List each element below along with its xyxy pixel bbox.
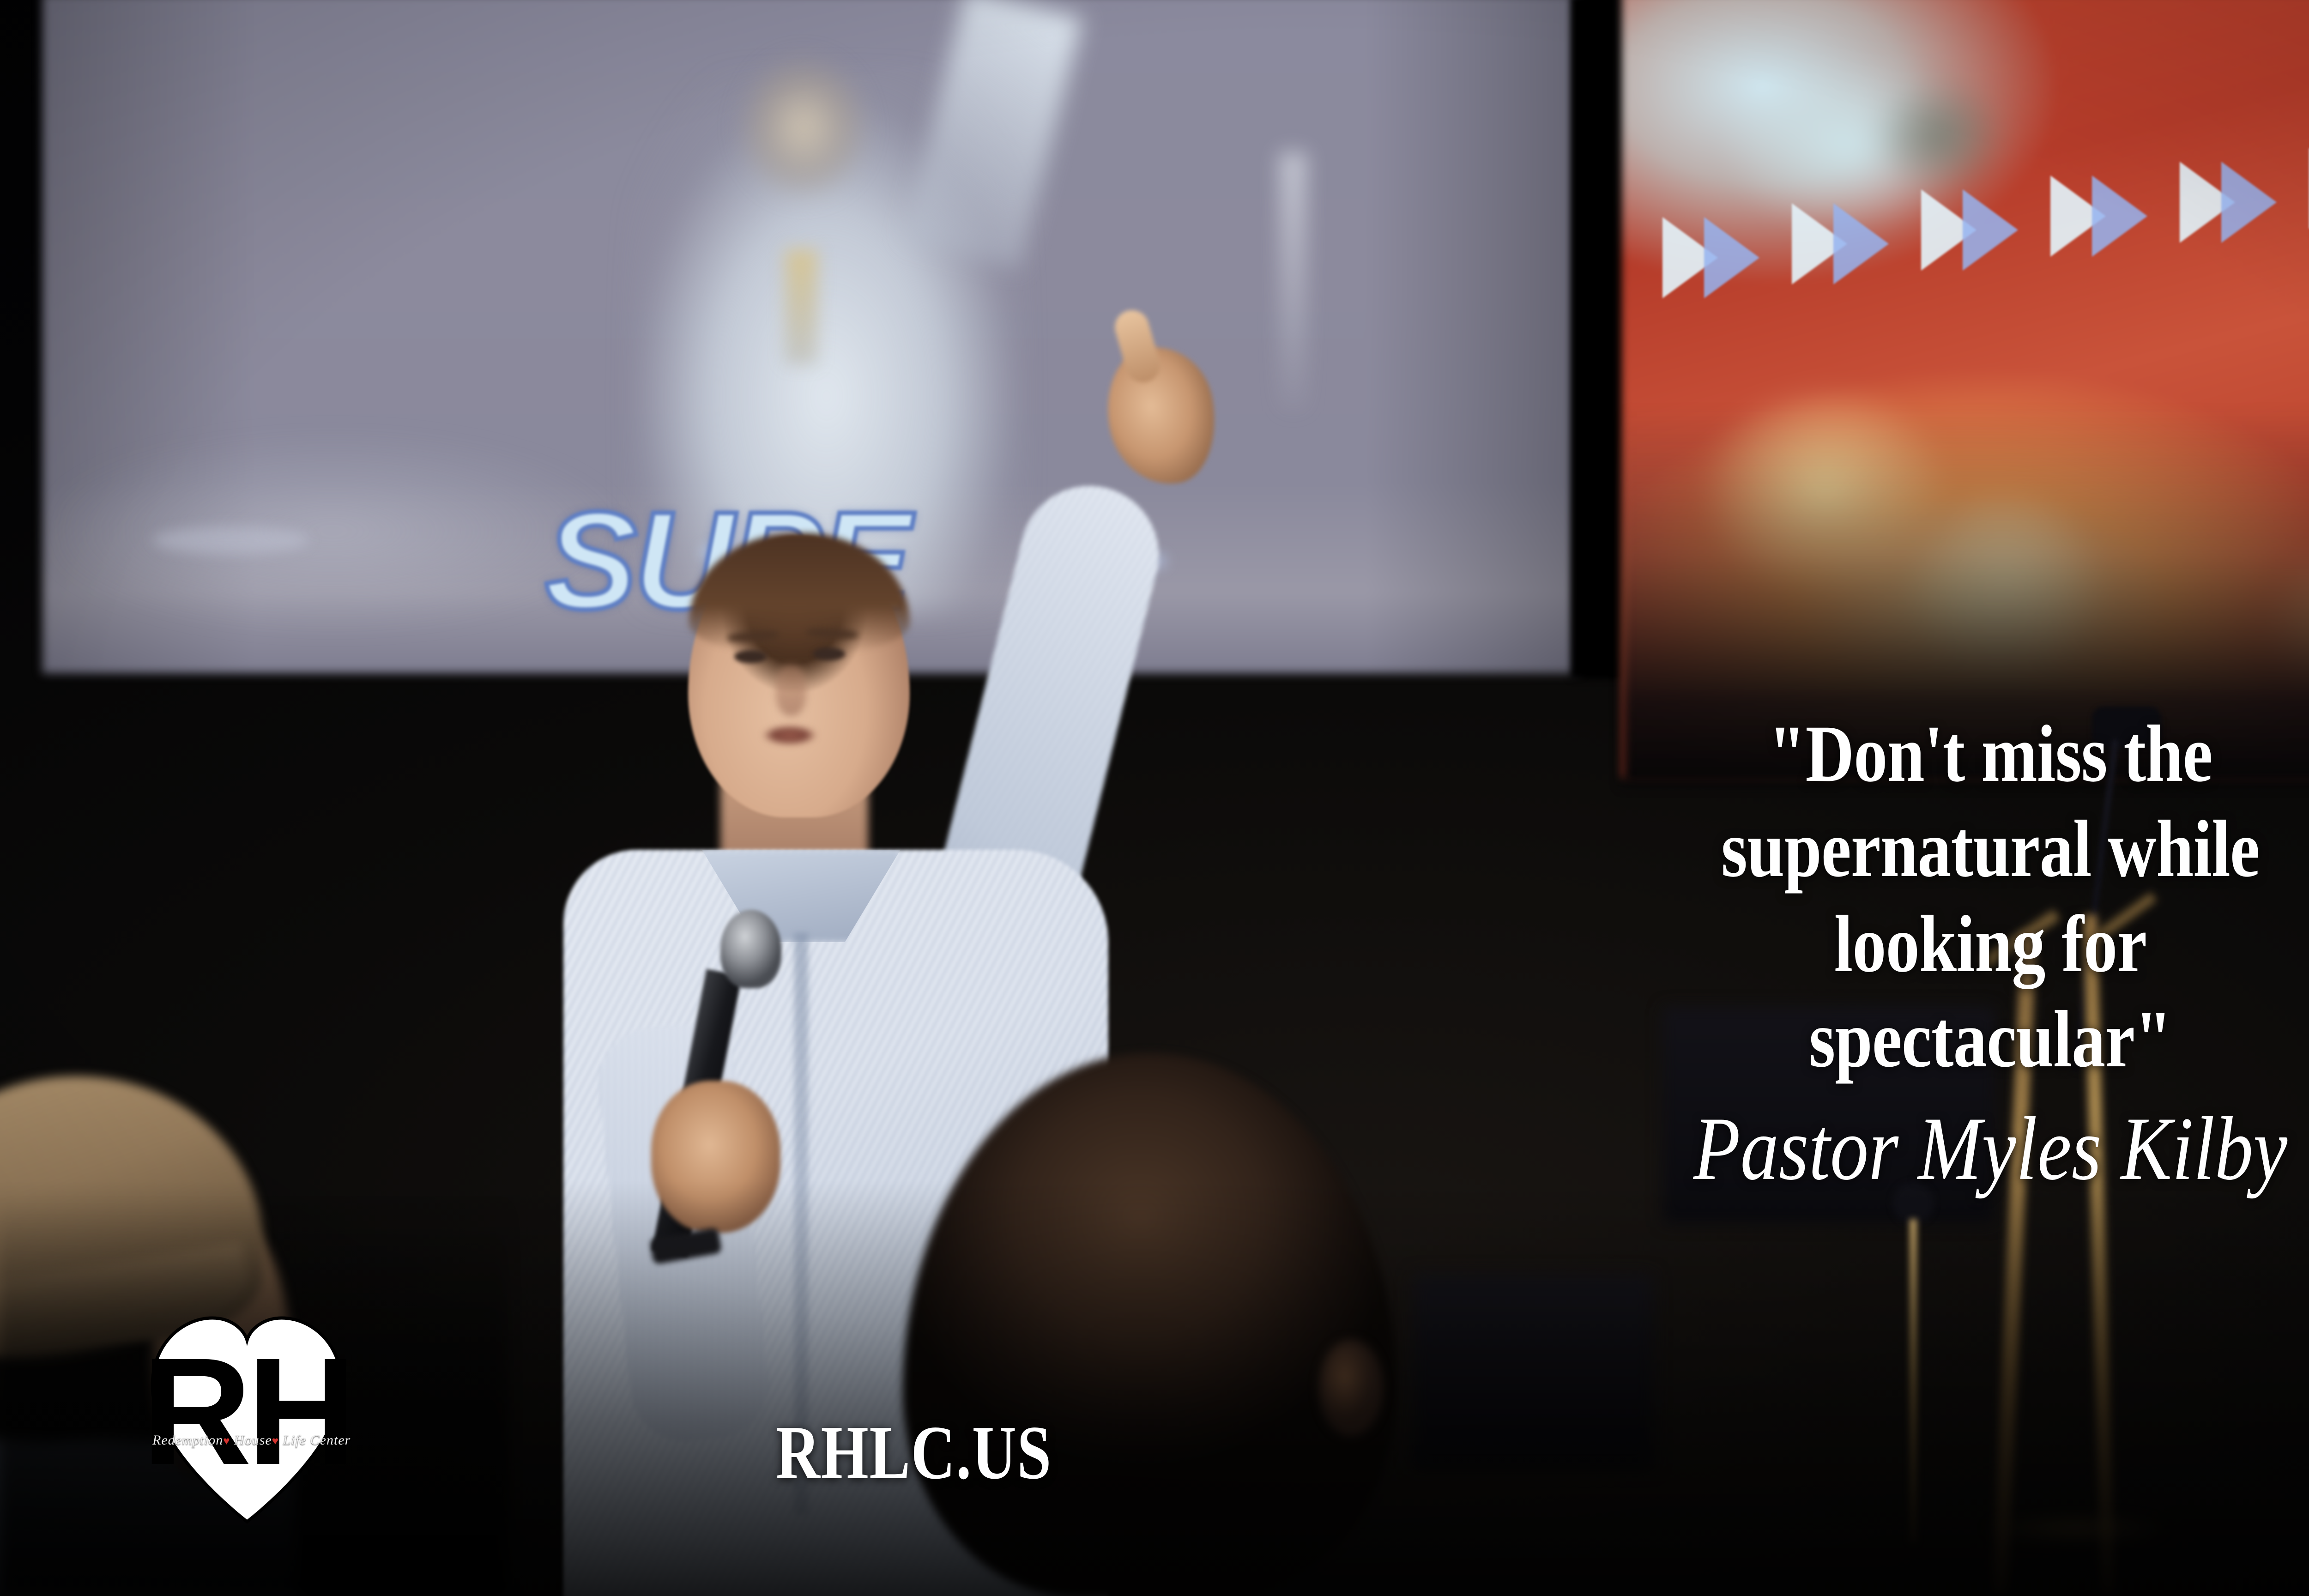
- quote-line-4: spectacular": [1527, 992, 2309, 1087]
- quote-overlay: "Don't miss the supernatural while looki…: [1432, 707, 2309, 1198]
- mic-stand-base: [1967, 1515, 2184, 1542]
- projected-pastor-head: [734, 51, 873, 203]
- chevron-arrow-icon: [2092, 175, 2147, 257]
- tagline-word-2: House: [234, 1433, 272, 1448]
- church-quote-graphic: SUPE: [0, 0, 2309, 1596]
- microphone-pole: [1910, 1219, 1917, 1542]
- heart-accent-icon: ♥: [223, 1435, 230, 1447]
- projected-microphone: [785, 249, 817, 365]
- website-url: RHLC.US: [776, 1409, 1052, 1497]
- logo-tagline: Redemption♥ House♥ Life Center: [152, 1433, 342, 1448]
- quote-line-1: "Don't miss the: [1527, 707, 2309, 802]
- eye: [813, 647, 845, 660]
- projected-light-dot: [152, 526, 309, 554]
- projected-stage-light: [1279, 152, 1307, 411]
- church-logo: RH Redemption♥ House♥ Life Center: [148, 1312, 346, 1529]
- quote-line-2: supernatural while: [1527, 802, 2309, 897]
- hand-holding-microphone: [651, 1081, 780, 1233]
- tagline-word-3: Life Center: [283, 1433, 351, 1448]
- handheld-microphone-head: [720, 910, 781, 988]
- chevron-arrow-icon: [1704, 217, 1759, 298]
- heart-logo-svg: RH: [148, 1312, 346, 1529]
- nose: [776, 665, 806, 716]
- music-stand: [1413, 1275, 1653, 1469]
- audience-ear: [1318, 1339, 1383, 1436]
- heart-accent-icon: ♥: [272, 1435, 279, 1447]
- eye: [734, 650, 767, 663]
- svg-text:RH: RH: [148, 1326, 346, 1496]
- tagline-word-1: Redemption: [152, 1433, 223, 1448]
- hair: [689, 533, 910, 653]
- chevron-arrow-icon: [2221, 162, 2277, 243]
- logo-initials: RH: [148, 1326, 346, 1496]
- quote-line-3: looking for: [1527, 897, 2309, 992]
- chevron-arrow-icon: [1833, 203, 1889, 284]
- chevron-arrow-icon: [1963, 189, 2018, 271]
- quote-attribution: Pastor Myles Kilby: [1516, 1099, 2309, 1199]
- mouth: [762, 725, 817, 745]
- screen-divider-gap: [1570, 0, 1626, 679]
